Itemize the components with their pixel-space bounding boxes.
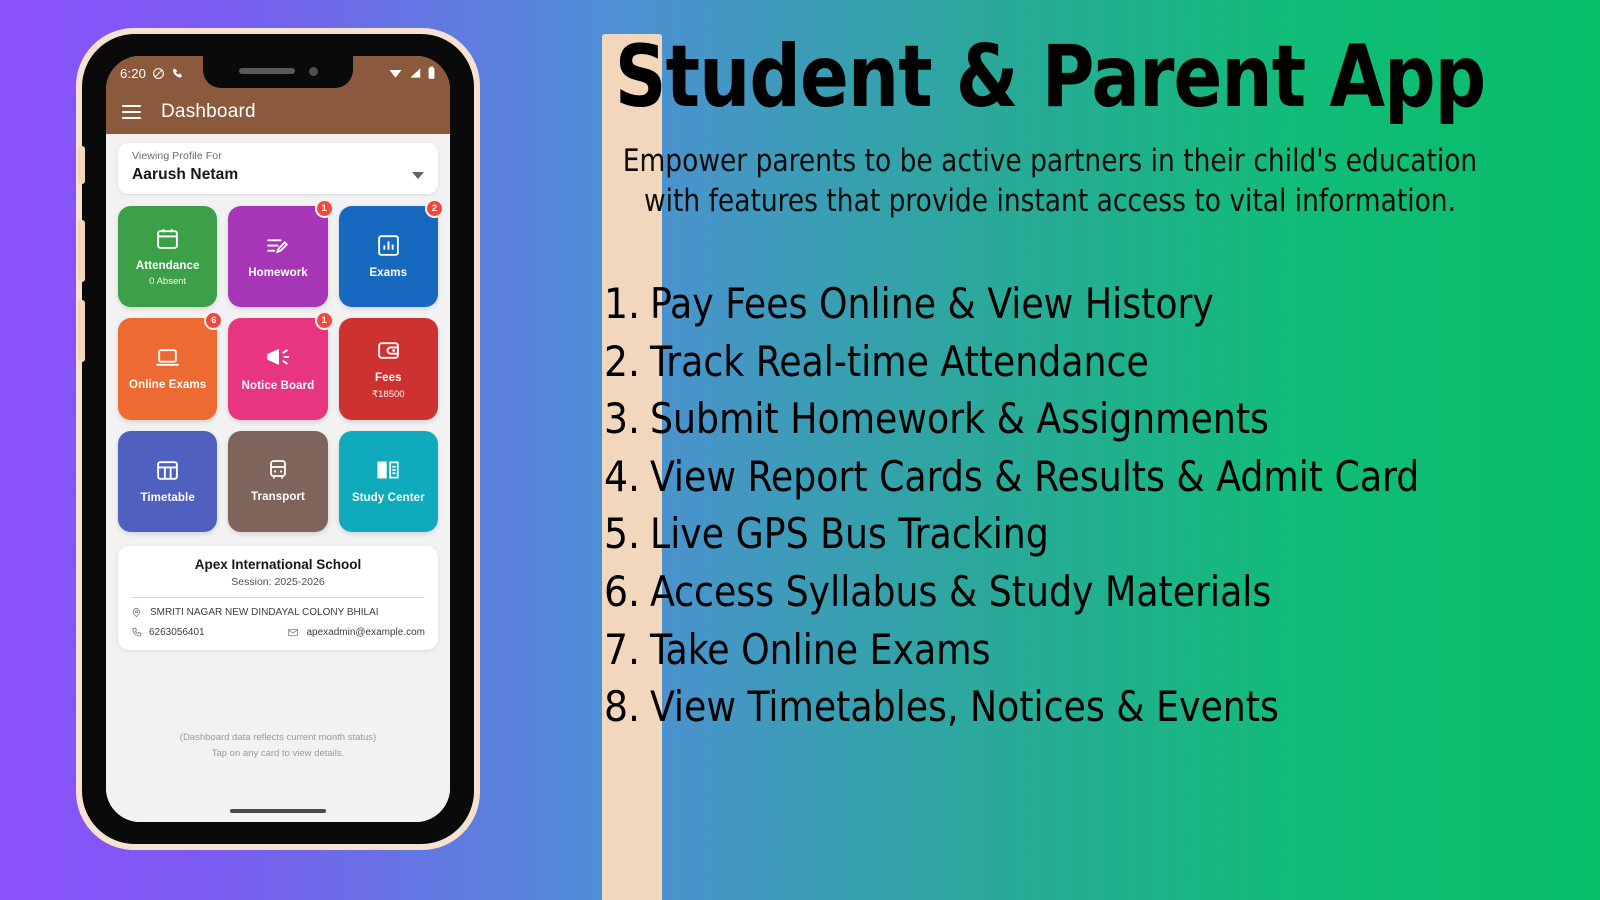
calendar-icon [155,226,180,251]
tile-badge: 2 [425,199,444,218]
status-bar: 6:20 [106,56,450,90]
front-camera [309,67,318,76]
school-phone-item: 6263056401 [131,627,205,638]
subheadline-line-1: Empower parents to be active partners in… [566,142,1535,182]
marketing-headline: Student & Parent App [576,34,1525,120]
status-bar-left: 6:20 [120,66,183,81]
tile-sublabel: 0 Absent [149,276,186,287]
status-bar-right [388,66,436,80]
divider [131,597,425,598]
tile-label: Online Exams [129,379,206,392]
assignment-edit-icon [265,233,290,258]
wallet-icon [376,338,401,363]
profile-selector[interactable]: Viewing Profile For Aarush Netam [118,143,438,194]
tile-label: Notice Board [242,380,315,393]
tile-online-exams[interactable]: 6 Online Exams [118,318,217,419]
tile-label: Exams [370,267,408,280]
school-session: Session: 2025-2026 [131,576,425,588]
school-email-item: apexadmin@example.com [287,627,425,638]
open-book-icon [375,457,401,483]
profile-selected-name: Aarush Netam [132,166,238,184]
tile-label: Transport [251,491,305,504]
phone-call-icon [171,67,183,80]
wifi-icon [388,67,403,79]
phone-notch [203,56,353,88]
feature-text: Live GPS Bus Tracking [650,505,1049,563]
tile-attendance[interactable]: Attendance 0 Absent [118,206,217,307]
school-name: Apex International School [131,557,425,572]
school-contact-row: 6263056401 apexadmin@example.com [131,627,425,638]
feature-text: Track Real-time Attendance [650,333,1149,391]
page-title: Dashboard [161,101,256,123]
dashboard-note: (Dashboard data reflects current month s… [118,730,438,761]
tile-label: Timetable [140,492,194,505]
cellular-signal-icon [408,67,422,79]
feature-text: View Report Cards & Results & Admit Card [650,448,1419,506]
tile-study-center[interactable]: Study Center [339,431,438,532]
app-bar: Dashboard [106,90,450,134]
feature-list-item: Pay Fees Online & View History [592,275,1560,333]
school-phone: 6263056401 [149,627,205,638]
feature-list-item: Track Real-time Attendance [592,333,1560,391]
phone-icon [131,627,142,638]
subheadline-line-2: with features that provide instant acces… [566,182,1535,222]
tile-transport[interactable]: Transport [228,431,327,532]
tile-label: Attendance [136,260,200,273]
tile-timetable[interactable]: Timetable [118,431,217,532]
do-not-disturb-icon [152,67,165,80]
feature-list-item: Take Online Exams [592,621,1560,679]
phone-mockup: 6:20 [76,28,480,850]
feature-list: Pay Fees Online & View History Track Rea… [592,275,1560,735]
feature-text: Access Syllabus & Study Materials [650,563,1271,621]
table-grid-icon [155,458,180,483]
marketing-panel: Student & Parent App Empower parents to … [520,0,1600,900]
bar-chart-box-icon [376,233,401,258]
tile-sublabel: ₹18500 [372,389,404,400]
chevron-down-icon[interactable] [412,172,424,179]
feature-text: Take Online Exams [650,621,991,679]
status-bar-clock: 6:20 [120,66,146,81]
profile-selector-label: Viewing Profile For [132,150,424,162]
feature-list-item: View Report Cards & Results & Admit Card [592,448,1560,506]
tile-exams[interactable]: 2 Exams [339,206,438,307]
school-info-card: Apex International School Session: 2025-… [118,546,438,650]
phone-body: 6:20 [82,34,474,844]
note-line-1: (Dashboard data reflects current month s… [118,730,438,746]
phone-volume-down-button[interactable] [78,300,85,362]
school-address: SMRITI NAGAR NEW DINDAYAL COLONY BHILAI [150,607,379,618]
feature-text: View Timetables, Notices & Events [650,678,1279,736]
tile-label: Study Center [352,492,425,505]
phone-mute-switch[interactable] [78,146,85,184]
profile-selector-row: Aarush Netam [132,166,424,184]
tile-badge: 1 [315,311,334,330]
location-pin-icon [131,607,142,618]
hamburger-menu-icon[interactable] [122,105,141,119]
marketing-subheadline: Empower parents to be active partners in… [566,142,1535,221]
tile-label: Homework [248,267,308,280]
tile-badge: 6 [204,311,223,330]
school-email: apexadmin@example.com [306,627,425,638]
tile-homework[interactable]: 1 Homework [228,206,327,307]
school-address-row: SMRITI NAGAR NEW DINDAYAL COLONY BHILAI [131,607,425,618]
tile-fees[interactable]: Fees ₹18500 [339,318,438,419]
tile-label: Fees [375,372,402,385]
feature-list-item: Access Syllabus & Study Materials [592,563,1560,621]
dashboard-tile-grid: Attendance 0 Absent 1 Homework [118,206,438,532]
tile-notice-board[interactable]: 1 Notice Board [228,318,327,419]
battery-icon [427,66,436,80]
phone-volume-up-button[interactable] [78,220,85,282]
bus-icon [266,458,290,482]
feature-text: Submit Homework & Assignments [650,390,1269,448]
megaphone-icon [265,345,291,371]
feature-list-item: Live GPS Bus Tracking [592,505,1560,563]
earpiece-speaker [239,68,295,74]
dashboard-content: Viewing Profile For Aarush Netam [106,134,450,822]
phone-screen: 6:20 [106,56,450,822]
feature-text: Pay Fees Online & View History [650,275,1214,333]
tile-badge: 1 [315,199,334,218]
laptop-icon [155,345,180,370]
feature-list-item: View Timetables, Notices & Events [592,678,1560,736]
note-line-2: Tap on any card to view details. [118,746,438,762]
feature-list-item: Submit Homework & Assignments [592,390,1560,448]
envelope-icon [287,627,299,638]
home-indicator[interactable] [230,809,326,813]
